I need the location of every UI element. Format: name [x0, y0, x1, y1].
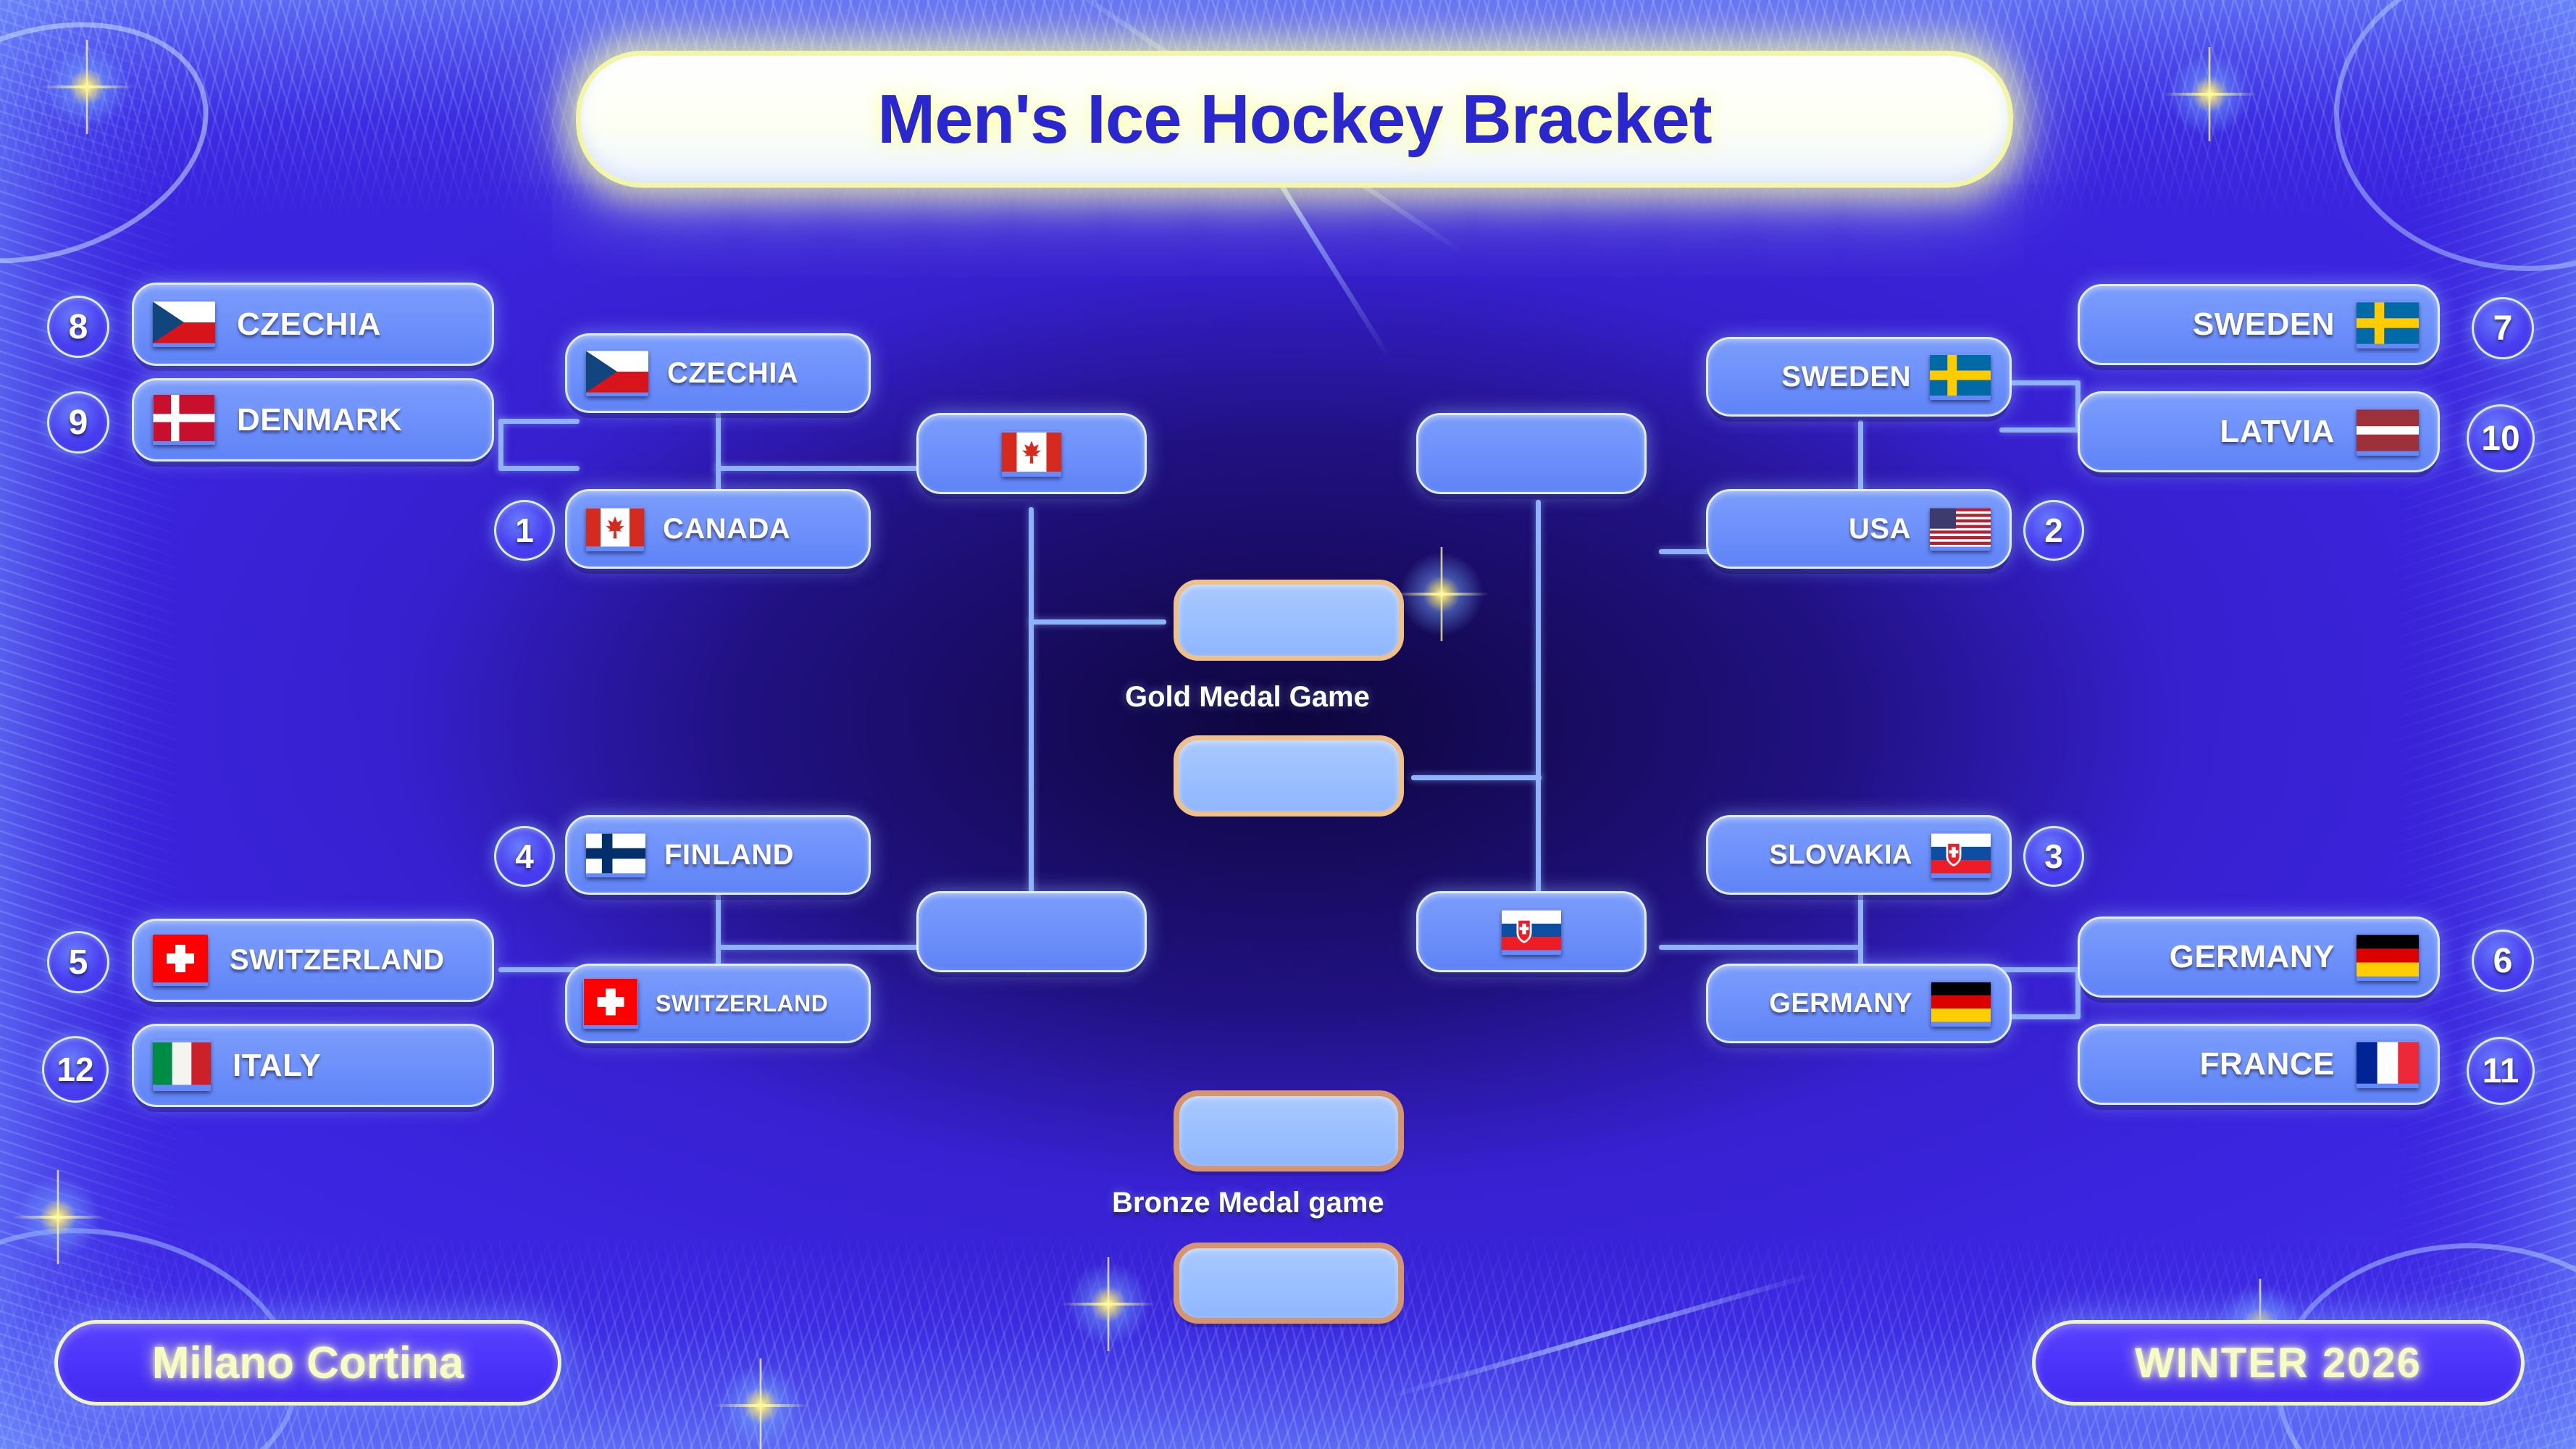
- seed-badge: 6: [2472, 930, 2534, 992]
- seed-badge: 7: [2472, 297, 2534, 359]
- team-name: FINLAND: [664, 839, 794, 872]
- sparkle-icon: [717, 1362, 804, 1449]
- sparkle-icon: [1065, 1261, 1152, 1348]
- bracket-connector: [498, 419, 503, 471]
- seed-badge: 11: [2467, 1037, 2535, 1105]
- page-title: Men's Ice Hockey Bracket: [576, 51, 2013, 188]
- sparkle-icon: [1398, 551, 1485, 638]
- flag-czechia-icon: [153, 301, 215, 347]
- flag-czechia-icon: [586, 351, 648, 396]
- flag-finland-icon: [586, 833, 645, 877]
- team-pill-germany-r2[interactable]: GERMANY: [1706, 964, 2012, 1043]
- gold-medal-label: Gold Medal Game: [1125, 681, 1370, 714]
- team-name: SWITZERLAND: [656, 990, 828, 1017]
- team-pill-denmark-r1[interactable]: DENMARK: [132, 378, 494, 462]
- flag-switzerland-icon: [583, 979, 638, 1029]
- flag-usa-icon: [1930, 508, 1991, 551]
- team-pill-canada-r2[interactable]: CANADA: [565, 489, 871, 569]
- bracket-connector: [498, 466, 580, 471]
- flag-sweden-icon: [2357, 301, 2419, 348]
- page-title-text: Men's Ice Hockey Bracket: [877, 80, 1711, 159]
- team-pill-sweden-r1[interactable]: SWEDEN: [2078, 284, 2440, 365]
- team-name: SWEDEN: [1781, 361, 1911, 393]
- team-name: CZECHIA: [667, 357, 798, 390]
- seed-badge: 8: [47, 296, 109, 358]
- team-pill-switzerland-r2[interactable]: SWITZERLAND: [565, 964, 871, 1043]
- qf-slot-right-top-empty[interactable]: [1416, 413, 1647, 494]
- team-pill-finland-r2[interactable]: FINLAND: [565, 815, 871, 895]
- bracket-connector: [1659, 945, 1863, 950]
- bracket-connector: [716, 466, 919, 471]
- seed-badge: 5: [47, 931, 109, 993]
- seed-badge: 4: [494, 826, 555, 887]
- team-name: FRANCE: [2200, 1046, 2335, 1082]
- qf-slot-canada[interactable]: [916, 413, 1147, 494]
- flag-latvia-icon: [2357, 409, 2419, 456]
- team-pill-czechia-r1[interactable]: CZECHIA: [132, 283, 494, 366]
- seed-badge: 12: [42, 1036, 109, 1103]
- gold-medal-slot-top[interactable]: [1174, 580, 1404, 661]
- team-pill-usa-r2[interactable]: USA: [1706, 489, 2012, 569]
- team-name: LATVIA: [2220, 414, 2335, 450]
- qf-slot-slovakia[interactable]: [1416, 891, 1647, 972]
- team-pill-latvia-r1[interactable]: LATVIA: [2078, 391, 2440, 472]
- team-name: CZECHIA: [237, 306, 381, 343]
- team-name: USA: [1849, 513, 1911, 546]
- team-name: SLOVAKIA: [1769, 840, 1912, 871]
- flag-denmark-icon: [153, 395, 215, 445]
- sparkle-icon: [14, 1174, 101, 1261]
- flag-switzerland-icon: [153, 935, 208, 986]
- bracket-connector: [1536, 500, 1541, 942]
- team-pill-slovakia-r2[interactable]: SLOVAKIA: [1706, 815, 2012, 895]
- team-name: SWEDEN: [2193, 306, 2335, 343]
- flag-germany-icon: [1931, 981, 1991, 1027]
- team-pill-france-r1[interactable]: FRANCE: [2078, 1024, 2440, 1105]
- team-name: ITALY: [233, 1048, 321, 1084]
- team-name: DENMARK: [237, 402, 402, 438]
- frost-texture-left: [0, 0, 188, 1449]
- team-pill-switzerland-r1[interactable]: SWITZERLAND: [132, 919, 494, 1002]
- decorative-arc: [2334, 0, 2576, 271]
- team-pill-sweden-r2[interactable]: SWEDEN: [1706, 337, 2012, 417]
- footer-right-text: WINTER 2026: [2135, 1339, 2422, 1387]
- qf-slot-left-bottom-empty[interactable]: [916, 891, 1147, 972]
- team-name: CANADA: [663, 513, 790, 546]
- team-pill-czechia-r2[interactable]: CZECHIA: [565, 333, 871, 413]
- bracket-connector: [716, 945, 919, 950]
- seed-badge: 2: [2023, 500, 2084, 561]
- team-pill-italy-r1[interactable]: ITALY: [132, 1024, 494, 1107]
- team-name: SWITZERLAND: [230, 944, 445, 977]
- team-name: GERMANY: [2170, 939, 2335, 975]
- gold-medal-slot-bottom[interactable]: [1174, 735, 1404, 817]
- seed-badge: 9: [47, 391, 109, 454]
- team-pill-germany-r1[interactable]: GERMANY: [2078, 916, 2440, 998]
- bronze-medal-slot-bottom[interactable]: [1174, 1243, 1404, 1324]
- footer-badge-winter-2026: WINTER 2026: [2032, 1320, 2525, 1406]
- bronze-medal-label: Bronze Medal game: [1112, 1187, 1384, 1219]
- seed-badge: 3: [2023, 826, 2084, 887]
- bracket-connector: [498, 419, 580, 424]
- flag-france-icon: [2357, 1041, 2419, 1088]
- bracket-connector: [1029, 619, 1166, 625]
- seed-badge: 1: [494, 500, 555, 561]
- flag-germany-icon: [2357, 934, 2419, 981]
- frost-texture-right: [2388, 0, 2576, 1449]
- footer-left-text: Milano Cortina: [152, 1337, 464, 1389]
- sparkle-icon: [43, 43, 130, 130]
- light-streak: [1384, 1271, 1818, 1400]
- bracket-connector: [1999, 967, 2081, 972]
- sparkle-icon: [2166, 51, 2253, 138]
- flag-canada-icon: [1002, 431, 1061, 477]
- decorative-arc: [0, 0, 240, 304]
- bracket-poster: Men's Ice Hockey Bracket 8 CZECHIA 9 DEN…: [0, 0, 2576, 1449]
- bracket-connector: [1999, 427, 2081, 433]
- bracket-connector: [1411, 775, 1542, 780]
- team-name: GERMANY: [1769, 988, 1912, 1019]
- seed-badge: 10: [2467, 404, 2535, 472]
- flag-canada-icon: [586, 507, 644, 551]
- bracket-connector: [498, 967, 580, 972]
- flag-italy-icon: [153, 1040, 211, 1091]
- flag-sweden-icon: [1930, 354, 1991, 400]
- flag-slovakia-icon: [1931, 832, 1991, 878]
- bronze-medal-slot-top[interactable]: [1174, 1090, 1404, 1172]
- flag-slovakia-icon: [1502, 909, 1561, 955]
- footer-badge-milano-cortina: Milano Cortina: [54, 1320, 561, 1406]
